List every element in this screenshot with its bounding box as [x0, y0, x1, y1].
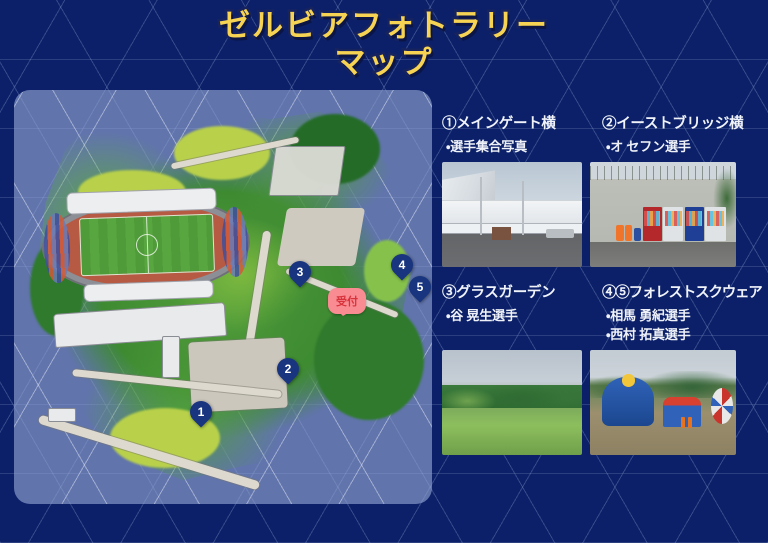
photo-1-cart — [546, 229, 574, 237]
location-row-bottom: ③グラスガーデン ・谷 晃生選手 ④⑤フォレストスクウェア ・相馬 勇紀選手 ・… — [442, 281, 762, 343]
location-3-photo[interactable] — [442, 350, 582, 455]
location-block-1: ①メインゲート横 ・選手集合写真 — [442, 112, 594, 155]
photo-4-mascot-face — [622, 374, 636, 387]
title-line-1: ゼルビアフォトラリー — [0, 8, 768, 45]
map-pin-1-label: 1 — [190, 401, 212, 423]
location-block-2: ②イーストブリッジ横 ・オ セフン選手 — [602, 112, 754, 155]
location-4-players: ・相馬 勇紀選手 ・西村 拓真選手 — [606, 305, 754, 343]
photo-2-vm-blue-panel — [686, 211, 702, 226]
location-2-heading: ②イーストブリッジ横 — [602, 112, 754, 133]
location-3-heading: ③グラスガーデン — [442, 281, 594, 302]
photo-2-vm-white1-panel — [665, 211, 682, 226]
map-forest-southeast — [314, 300, 424, 420]
page-title: ゼルビアフォトラリー マップ — [0, 8, 768, 81]
location-1-photo[interactable] — [442, 162, 582, 267]
photo-2-vm-red-panel — [644, 211, 660, 226]
title-line-2: マップ — [0, 45, 768, 82]
photo-2-vending-machine-blue — [685, 207, 704, 241]
location-2-photo[interactable] — [590, 162, 736, 267]
photo-4-staff-2 — [688, 417, 692, 428]
map-pin-5-label: 5 — [409, 276, 431, 298]
location-4-photo[interactable] — [590, 350, 736, 455]
photo-1-light-pole-right — [522, 181, 524, 236]
map-pin-5[interactable]: 5 — [404, 271, 432, 302]
stadium-pitch — [79, 214, 215, 277]
map-building-northeast — [268, 146, 345, 196]
map-pin-2[interactable]: 2 — [272, 353, 303, 384]
map-building-southwest — [48, 408, 76, 422]
location-block-3: ③グラスガーデン ・谷 晃生選手 — [442, 281, 594, 343]
location-1-player-1: ・選手集合写真 — [446, 136, 594, 155]
location-3-player-1: ・谷 晃生選手 — [446, 305, 594, 324]
map-pin-3-label: 3 — [289, 261, 311, 283]
map-pin-2-label: 2 — [277, 358, 299, 380]
map-plaza-northeast — [277, 208, 365, 266]
location-1-heading: ①メインゲート横 — [442, 112, 594, 133]
photo-1-door — [492, 227, 510, 240]
photo-2-recycle-bin-3 — [634, 228, 641, 241]
photo-2-vending-machine-white-1 — [663, 207, 683, 241]
location-4-heading: ④⑤フォレストスクウェア — [602, 281, 754, 302]
location-row-top: ①メインゲート横 ・選手集合写真 ②イーストブリッジ横 ・オ セフン選手 — [442, 112, 762, 155]
photo-4-dart-wheel — [711, 388, 733, 424]
map-pin-3[interactable]: 3 — [284, 256, 315, 287]
photo-1-wall-upper — [442, 200, 582, 223]
location-2-player-1: ・オ セフン選手 — [606, 136, 754, 155]
location-4-player-1: ・相馬 勇紀選手 — [606, 305, 754, 324]
photo-4-inflatable-mascot — [602, 377, 655, 425]
photo-2-vending-machine-red — [643, 207, 662, 241]
photo-1-stand-roof — [442, 170, 495, 202]
location-4-player-2: ・西村 拓真選手 — [606, 324, 754, 343]
photo-row-bottom — [442, 350, 762, 455]
location-1-players: ・選手集合写真 — [446, 136, 594, 155]
photo-4-staff-1 — [681, 417, 685, 428]
stadium-center-circle — [136, 234, 159, 257]
reception-bubble[interactable]: 受付 — [328, 288, 366, 314]
location-2-players: ・オ セフン選手 — [606, 136, 754, 155]
location-info-column: ①メインゲート横 ・選手集合写真 ②イーストブリッジ横 ・オ セフン選手 — [442, 112, 762, 455]
map-annex-building — [162, 336, 180, 378]
photo-2-vending-machine-white-2 — [705, 207, 725, 241]
map-pin-4-label: 4 — [391, 254, 413, 276]
photo-2-recycle-bin-2 — [625, 225, 632, 241]
location-block-4: ④⑤フォレストスクウェア ・相馬 勇紀選手 ・西村 拓真選手 — [602, 281, 754, 343]
map-pin-1[interactable]: 1 — [185, 396, 216, 427]
map-stadium — [40, 192, 251, 297]
photo-2-recycle-bin-1 — [616, 225, 623, 241]
photo-1-light-pole-left — [480, 177, 482, 236]
map-panel[interactable]: 1 2 3 4 5 受付 — [14, 90, 432, 504]
photo-2-vm-white2-panel — [707, 211, 724, 226]
photo-row-top — [442, 162, 762, 267]
location-3-players: ・谷 晃生選手 — [446, 305, 594, 324]
park-map-illustration — [14, 90, 432, 504]
photo-3-treeline — [442, 385, 582, 408]
